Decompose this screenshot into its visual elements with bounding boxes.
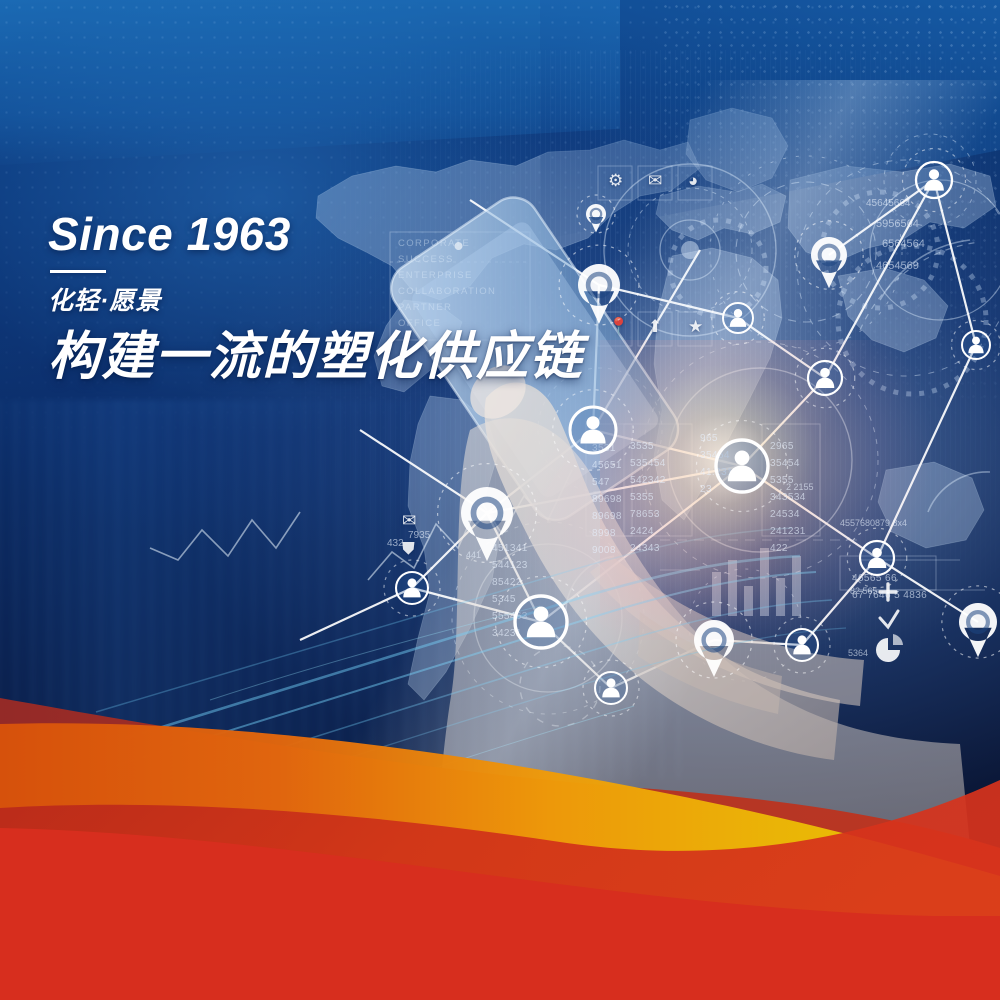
node-pin <box>942 586 1000 658</box>
node-person <box>496 577 587 668</box>
divider-rule <box>50 270 106 273</box>
node-person <box>774 617 830 673</box>
node-pin <box>438 464 537 563</box>
node-person <box>697 421 788 512</box>
subtitle: 化轻·愿景 <box>48 281 583 317</box>
hero-copy-block: Since 1963 化轻·愿景 构建一流的塑化供应链 <box>48 210 583 386</box>
node-pin <box>676 602 752 678</box>
hero-banner: CORPORATE SUCCESS ENTERPRISE COLLABORATI… <box>0 0 1000 1000</box>
node-person <box>795 348 855 408</box>
eyebrow-since: Since 1963 <box>48 210 583 258</box>
node-person <box>952 321 1000 370</box>
node-person <box>903 149 966 212</box>
node-person <box>847 528 907 588</box>
page-title: 构建一流的塑化供应链 <box>48 329 583 386</box>
node-person <box>712 292 765 345</box>
wave-red-fill <box>0 916 1000 1000</box>
wave-decoration <box>0 680 1000 1000</box>
node-person <box>553 390 634 471</box>
node-pin <box>795 221 863 289</box>
node-person <box>384 560 440 616</box>
